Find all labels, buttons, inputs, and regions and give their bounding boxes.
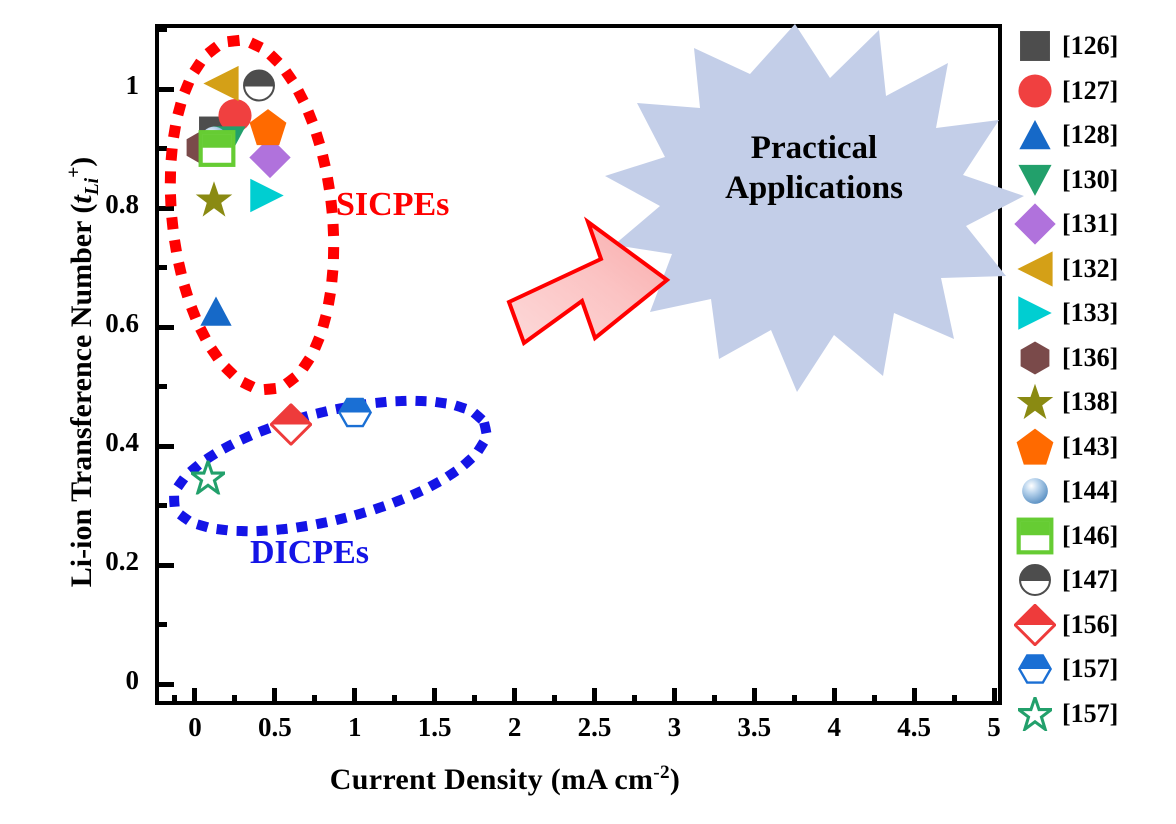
legend-item-127-1[interactable]: [127] [1008, 69, 1176, 114]
legend-label: [130] [1062, 165, 1118, 195]
circle-halffill-marker [242, 69, 276, 103]
y-tick-label: 0.4 [59, 427, 139, 458]
legend-item-146-11[interactable]: [146] [1008, 514, 1176, 559]
legend-marker-icon [1008, 477, 1062, 505]
pentagon-marker [1015, 427, 1055, 467]
x-tick-label: 1.5 [400, 712, 470, 743]
tick-mark [157, 325, 174, 330]
legend-item-157-14[interactable]: [157] [1008, 647, 1176, 692]
x-tick-label: 2.5 [559, 712, 629, 743]
tick-mark [157, 622, 167, 627]
tick-mark [312, 695, 317, 705]
tick-mark [157, 682, 174, 687]
legend: [126][127][128][130][131][132][133][136]… [1008, 24, 1176, 736]
triangle-left-marker [201, 64, 241, 104]
tick-mark [157, 444, 174, 449]
y-tick-label: 1 [59, 70, 139, 101]
square-halffill-marker [198, 129, 236, 167]
tick-mark [872, 695, 877, 705]
legend-marker-icon [1008, 340, 1062, 376]
star-marker [195, 181, 233, 219]
tick-mark [712, 695, 717, 705]
data-point-138[interactable] [195, 181, 233, 224]
legend-label: [138] [1062, 387, 1118, 417]
legend-label: [144] [1062, 476, 1118, 506]
circle-halffill-marker [1018, 563, 1052, 597]
triangle-right-marker [1016, 294, 1054, 332]
legend-label: [126] [1062, 31, 1118, 61]
tick-mark [912, 688, 917, 705]
legend-label: [156] [1062, 610, 1118, 640]
legend-item-126-0[interactable]: [126] [1008, 24, 1176, 69]
legend-label: [127] [1062, 76, 1118, 106]
x-tick-label: 0 [160, 712, 230, 743]
tick-mark [157, 87, 174, 92]
triangle-left-marker [1015, 249, 1055, 289]
pentagon-marker [248, 107, 288, 147]
legend-label: [146] [1062, 521, 1118, 551]
y-axis-title: Li-ion Transference Number (tLi+) [64, 22, 104, 722]
dicpes-label: DICPEs [250, 534, 369, 572]
hexagon-halffill-marker [338, 396, 372, 430]
legend-marker-icon [1008, 563, 1062, 597]
legend-item-143-9[interactable]: [143] [1008, 425, 1176, 470]
x-tick-label: 4.5 [879, 712, 949, 743]
triangle-up-marker [199, 294, 233, 328]
star-open-marker [191, 460, 225, 494]
legend-label: [132] [1062, 254, 1118, 284]
legend-marker-icon [1008, 604, 1062, 646]
legend-marker-icon [1008, 202, 1062, 246]
tick-mark [157, 384, 167, 389]
x-tick-label: 3 [639, 712, 709, 743]
data-point-157[interactable] [338, 396, 372, 435]
x-tick-label: 2 [480, 712, 550, 743]
scatter-chart-figure: Li-ion Transference Number (tLi+) Curren… [0, 0, 1176, 824]
tick-mark [792, 695, 797, 705]
data-point-132[interactable] [201, 64, 241, 109]
square-halffill-marker [1016, 517, 1054, 555]
tick-mark [157, 563, 174, 568]
tick-mark [832, 688, 837, 705]
legend-item-132-5[interactable]: [132] [1008, 247, 1176, 292]
hexagon-halffill-marker [1018, 652, 1052, 686]
legend-label: [131] [1062, 209, 1118, 239]
tick-mark [157, 265, 167, 270]
legend-marker-icon [1008, 517, 1062, 555]
legend-item-130-3[interactable]: [130] [1008, 158, 1176, 203]
practical-applications-label: Practical Applications [664, 128, 964, 209]
legend-label: [136] [1062, 343, 1118, 373]
data-point-133[interactable] [248, 176, 286, 219]
data-point-143[interactable] [248, 107, 288, 152]
legend-marker-icon [1008, 118, 1062, 152]
y-tick-label: 0.8 [59, 189, 139, 220]
tick-mark [752, 688, 757, 705]
data-point-146[interactable] [198, 129, 236, 172]
tick-mark [192, 688, 197, 705]
star-marker [1016, 383, 1054, 421]
tick-mark [232, 695, 237, 705]
legend-label: [133] [1062, 298, 1118, 328]
legend-item-156-13[interactable]: [156] [1008, 603, 1176, 648]
square-marker [1018, 29, 1052, 63]
legend-marker-icon [1008, 162, 1062, 198]
tick-mark [672, 688, 677, 705]
data-point-128[interactable] [199, 294, 233, 333]
legend-label: [128] [1062, 120, 1118, 150]
diamond-halffill-marker [270, 404, 312, 446]
sphere-marker [1021, 477, 1049, 505]
data-point-157[interactable] [191, 460, 225, 499]
data-point-156[interactable] [270, 404, 312, 451]
x-axis-title: Current Density (mA cm-2) [0, 762, 1010, 797]
legend-marker-icon [1008, 652, 1062, 686]
x-tick-label: 4 [799, 712, 869, 743]
legend-item-136-7[interactable]: [136] [1008, 336, 1176, 381]
diamond-halffill-marker [1014, 604, 1056, 646]
diamond-marker [1013, 202, 1057, 246]
tick-mark [432, 688, 437, 705]
tick-mark [592, 688, 597, 705]
legend-label: [157] [1062, 654, 1118, 684]
tick-mark [512, 688, 517, 705]
legend-marker-icon [1008, 697, 1062, 731]
tick-mark [392, 695, 397, 705]
legend-label: [143] [1062, 432, 1118, 462]
y-tick-label: 0 [59, 665, 139, 696]
legend-item-133-6[interactable]: [133] [1008, 291, 1176, 336]
tick-mark [952, 695, 957, 705]
legend-item-157-15[interactable]: [157] [1008, 692, 1176, 737]
hexagon-marker [1017, 340, 1053, 376]
tick-mark [172, 695, 177, 705]
x-tick-label: 0.5 [240, 712, 310, 743]
x-tick-label: 1 [320, 712, 390, 743]
tick-mark [632, 695, 637, 705]
sicpes-label: SICPEs [336, 186, 449, 224]
tick-mark [552, 695, 557, 705]
y-tick-label: 0.6 [59, 308, 139, 339]
tick-mark [472, 695, 477, 705]
tick-mark [157, 503, 167, 508]
tick-mark [157, 146, 167, 151]
triangle-up-marker [1018, 118, 1052, 152]
x-tick-label: 3.5 [719, 712, 789, 743]
star-open-marker [1018, 697, 1052, 731]
circle-marker [1017, 73, 1053, 109]
triangle-right-marker [248, 176, 286, 214]
tick-mark [352, 688, 357, 705]
legend-item-138-8[interactable]: [138] [1008, 380, 1176, 425]
legend-marker-icon [1008, 383, 1062, 421]
tick-mark [157, 27, 167, 32]
legend-marker-icon [1008, 29, 1062, 63]
legend-item-131-4[interactable]: [131] [1008, 202, 1176, 247]
tick-mark [157, 206, 174, 211]
legend-label: [157] [1062, 699, 1118, 729]
y-tick-label: 0.2 [59, 546, 139, 577]
legend-marker-icon [1008, 73, 1062, 109]
legend-marker-icon [1008, 249, 1062, 289]
legend-marker-icon [1008, 427, 1062, 467]
legend-item-128-2[interactable]: [128] [1008, 113, 1176, 158]
triangle-down-marker [1017, 162, 1053, 198]
legend-label: [147] [1062, 565, 1118, 595]
tick-mark [992, 688, 997, 705]
legend-marker-icon [1008, 294, 1062, 332]
legend-item-144-10[interactable]: [144] [1008, 469, 1176, 514]
legend-item-147-12[interactable]: [147] [1008, 558, 1176, 603]
tick-mark [272, 688, 277, 705]
data-point-147[interactable] [242, 69, 276, 108]
